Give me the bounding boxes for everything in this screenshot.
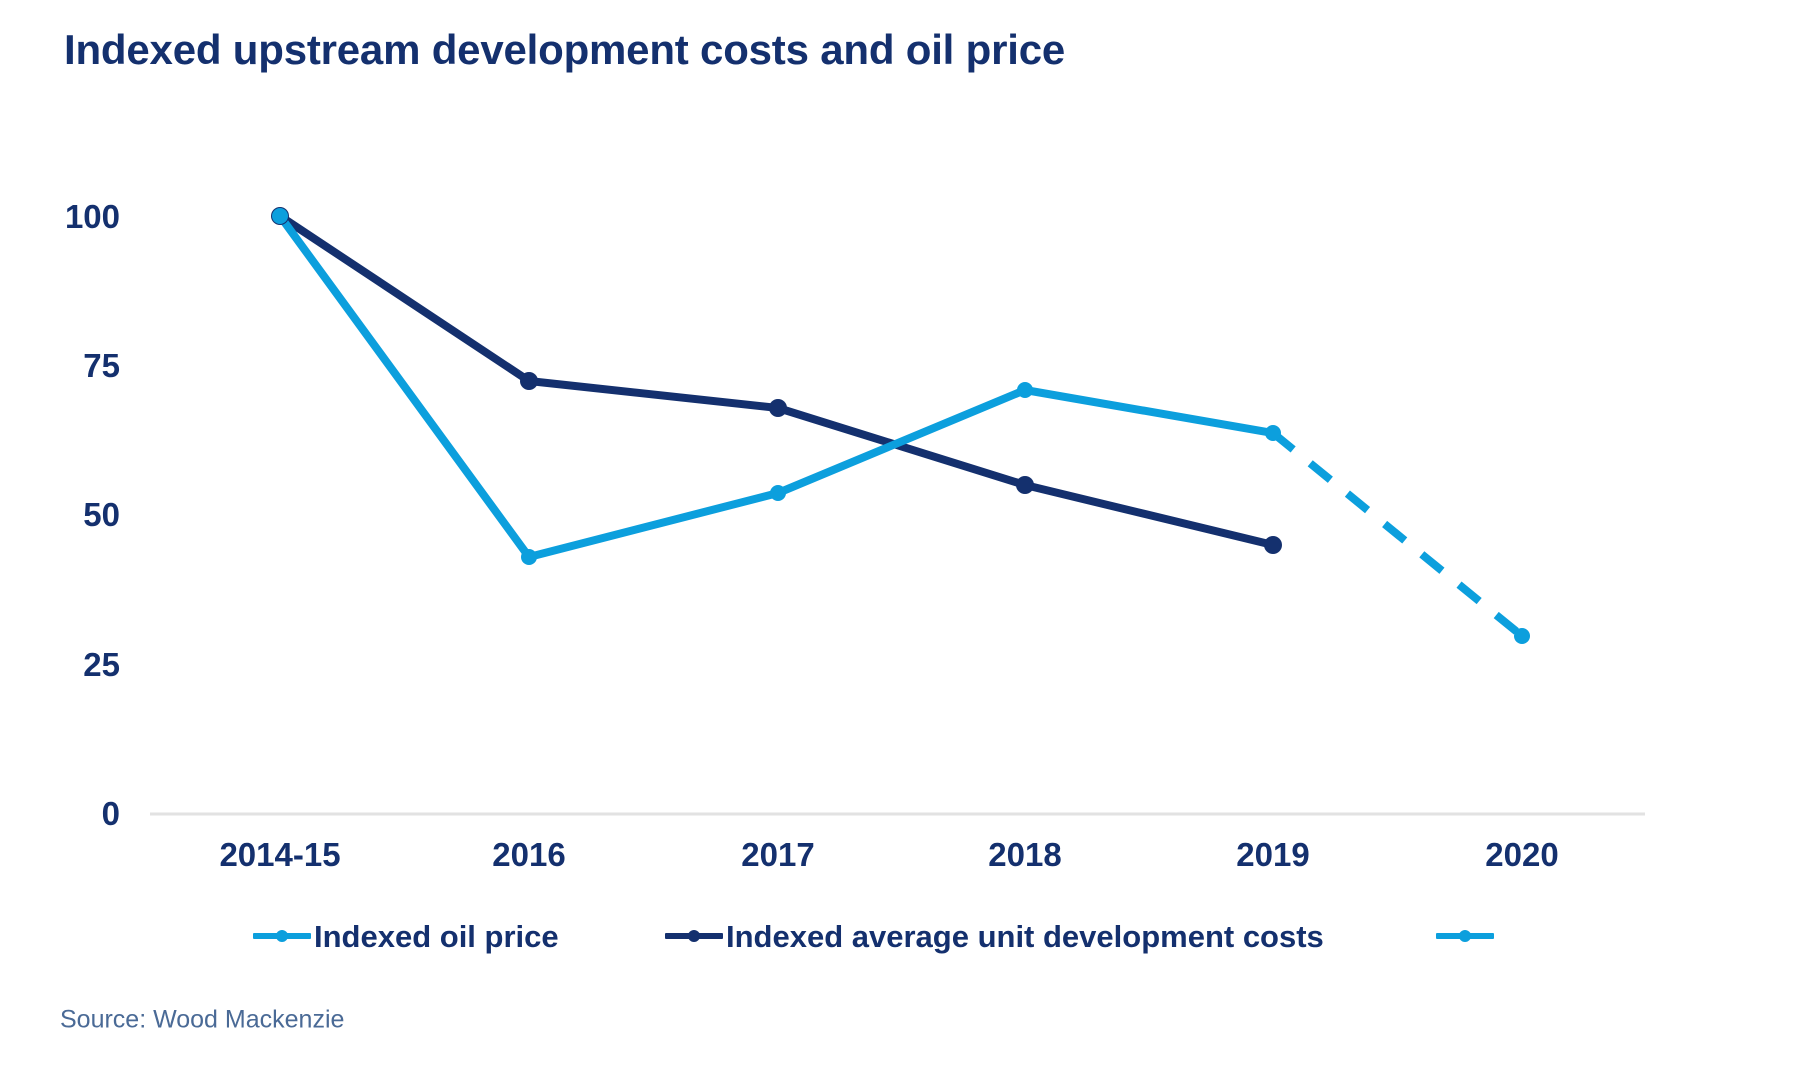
legend-item-unlabeled[interactable] xyxy=(1436,912,1497,960)
data-point-development-costs-2016 xyxy=(520,372,538,390)
data-point-oil-price-2019 xyxy=(1265,425,1281,441)
legend-label-oil-price: Indexed oil price xyxy=(314,921,559,952)
x-axis-tick-2014-15: 2014-15 xyxy=(160,838,400,871)
series-line-oil-price-forecast xyxy=(1273,433,1522,636)
data-point-development-costs-2018 xyxy=(1016,476,1034,494)
data-point-oil-price-2018 xyxy=(1017,382,1033,398)
legend-line-marker-icon xyxy=(665,927,723,945)
data-point-oil-price-2014-15 xyxy=(272,208,288,224)
x-axis-tick-2020: 2020 xyxy=(1402,838,1642,871)
data-point-development-costs-2017 xyxy=(769,399,787,417)
legend-label-development-costs: Indexed average unit development costs xyxy=(726,921,1324,952)
legend-line-marker-icon xyxy=(253,927,311,945)
data-point-oil-price-2017 xyxy=(770,485,786,501)
legend-item-oil-price[interactable]: Indexed oil price xyxy=(253,912,559,960)
legend-line-marker-icon xyxy=(1436,927,1494,945)
source-note: Source: Wood Mackenzie xyxy=(60,1006,344,1035)
x-axis-tick-2017: 2017 xyxy=(658,838,898,871)
legend-item-development-costs[interactable]: Indexed average unit development costs xyxy=(665,912,1324,960)
data-point-oil-price-2020 xyxy=(1514,628,1530,644)
x-axis-tick-2018: 2018 xyxy=(905,838,1145,871)
data-point-oil-price-2016 xyxy=(521,549,537,565)
x-axis-tick-2016: 2016 xyxy=(409,838,649,871)
chart-legend: Indexed oil price Indexed average unit d… xyxy=(0,912,1800,960)
x-axis-tick-2019: 2019 xyxy=(1153,838,1393,871)
chart-figure: Indexed upstream development costs and o… xyxy=(0,0,1800,1080)
data-point-development-costs-2019 xyxy=(1264,536,1282,554)
